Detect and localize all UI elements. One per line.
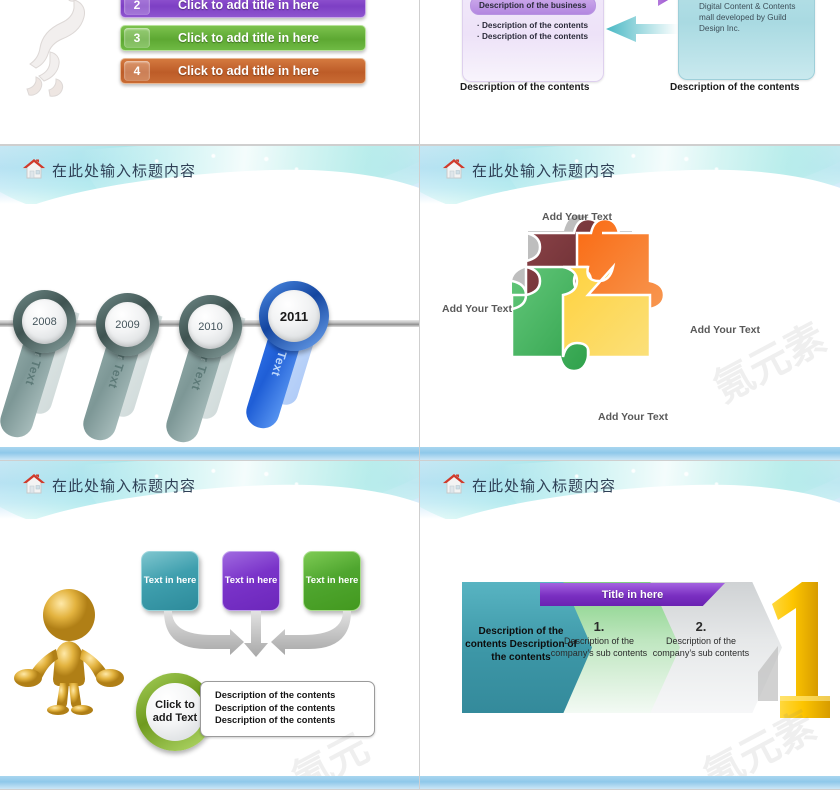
puzzle-label-bottom: Add Your Text [598, 411, 668, 423]
dancer-photo [14, 0, 110, 104]
button-label: Click to add title in here [150, 64, 365, 78]
caption-right: Description of the contents [670, 82, 799, 93]
step-number: 2. [650, 621, 752, 633]
house-icon [442, 158, 466, 180]
puzzle-label-right: Add Your Text [690, 324, 760, 336]
button-number: 3 [124, 28, 150, 48]
step-text: Description of the company’s sub content… [551, 636, 647, 658]
slide-buttons[interactable]: 2 Click to add title in here 3 Click to … [0, 0, 420, 145]
timeline-year: 2008 [32, 316, 56, 328]
button-label: Click to add title in here [150, 31, 365, 45]
chevron-step-2-text: 2. Description of the company’s sub cont… [650, 621, 752, 659]
footer-bar [420, 447, 840, 460]
pill-main: Description of the business [470, 0, 596, 15]
text-box-label: Text in here [225, 575, 278, 587]
footer-bar [0, 776, 419, 789]
arrows-down-icon [150, 609, 365, 669]
text-box-2[interactable]: Text in here [222, 551, 280, 611]
puzzle-label-left: Add Your Text [442, 303, 512, 315]
text-box-3[interactable]: Text in here [303, 551, 361, 611]
slide-title: 在此处输入标题内容 [472, 475, 616, 496]
title-button-2[interactable]: 2 Click to add title in here [120, 0, 366, 18]
slide-title: 在此处输入标题内容 [52, 475, 196, 496]
teal-left-arrow-icon [606, 16, 678, 42]
step-text: Description of the company’s sub content… [653, 636, 749, 658]
footer-bar [0, 447, 419, 460]
slide-process[interactable]: 在此处输入标题内容 Text in here Text in here Text… [0, 460, 420, 790]
button-number: 2 [124, 0, 150, 15]
timeline-year: 2010 [198, 321, 222, 333]
description-line: Description of the contents [215, 714, 374, 727]
watermark: 氪元素 [701, 306, 834, 414]
slide-timeline[interactable]: 在此处输入标题内容 Your Text Your Text 2008 Your … [0, 145, 420, 461]
right-content-card[interactable]: mall developed by Guild Design Inc. Cont… [678, 0, 815, 80]
text-box-label: Text in here [144, 575, 197, 587]
puzzle-graphic[interactable] [490, 211, 710, 416]
gold-number-one [750, 576, 836, 726]
description-line: Description of the contents [215, 702, 374, 715]
timeline-year: 2011 [280, 309, 308, 324]
text-box-label: Text in here [306, 575, 359, 587]
circle-label: Click to add Text [146, 683, 204, 741]
footer-bar [420, 776, 840, 789]
description-line: Description of the contents [215, 689, 374, 702]
slide-chevrons[interactable]: 在此处输入标题内容 Title in here Description of t… [420, 460, 840, 790]
title-button-4[interactable]: 4 Click to add title in here [120, 58, 366, 84]
puzzle-label-top: Add Your Text [542, 211, 612, 223]
bullet-line: · Description of the contents [477, 21, 603, 30]
slides-contact-sheet: 2 Click to add title in here 3 Click to … [0, 0, 840, 788]
slide-title: 在此处输入标题内容 [472, 160, 616, 181]
house-icon [22, 158, 46, 180]
slide-title: 在此处输入标题内容 [52, 160, 196, 181]
chevron-step-1-text: 1. Description of the company’s sub cont… [548, 621, 650, 659]
bullet-line: · Description of the contents [477, 32, 603, 41]
step-number: 1. [548, 621, 650, 633]
house-icon [22, 473, 46, 495]
slide-puzzle[interactable]: 在此处输入标题内容 [420, 145, 840, 461]
house-icon [442, 473, 466, 495]
button-label: Click to add title in here [150, 0, 365, 12]
slide-two-cards[interactable]: Description of the business Description … [420, 0, 840, 145]
title-button-3[interactable]: 3 Click to add title in here [120, 25, 366, 51]
left-content-card[interactable]: Description of the business Description … [462, 0, 604, 82]
chevron-banner: Title in here [540, 583, 725, 606]
timeline-year: 2009 [115, 319, 139, 331]
purple-right-arrow-icon [616, 0, 680, 6]
text-box-1[interactable]: Text in here [141, 551, 199, 611]
gold-figure [14, 583, 124, 715]
description-box[interactable]: Description of the contents Description … [200, 681, 375, 737]
caption-left: Description of the contents [460, 82, 589, 93]
card-section-body: ThemeGallery is a Design Digital Content… [699, 0, 814, 34]
button-number: 4 [124, 61, 150, 81]
